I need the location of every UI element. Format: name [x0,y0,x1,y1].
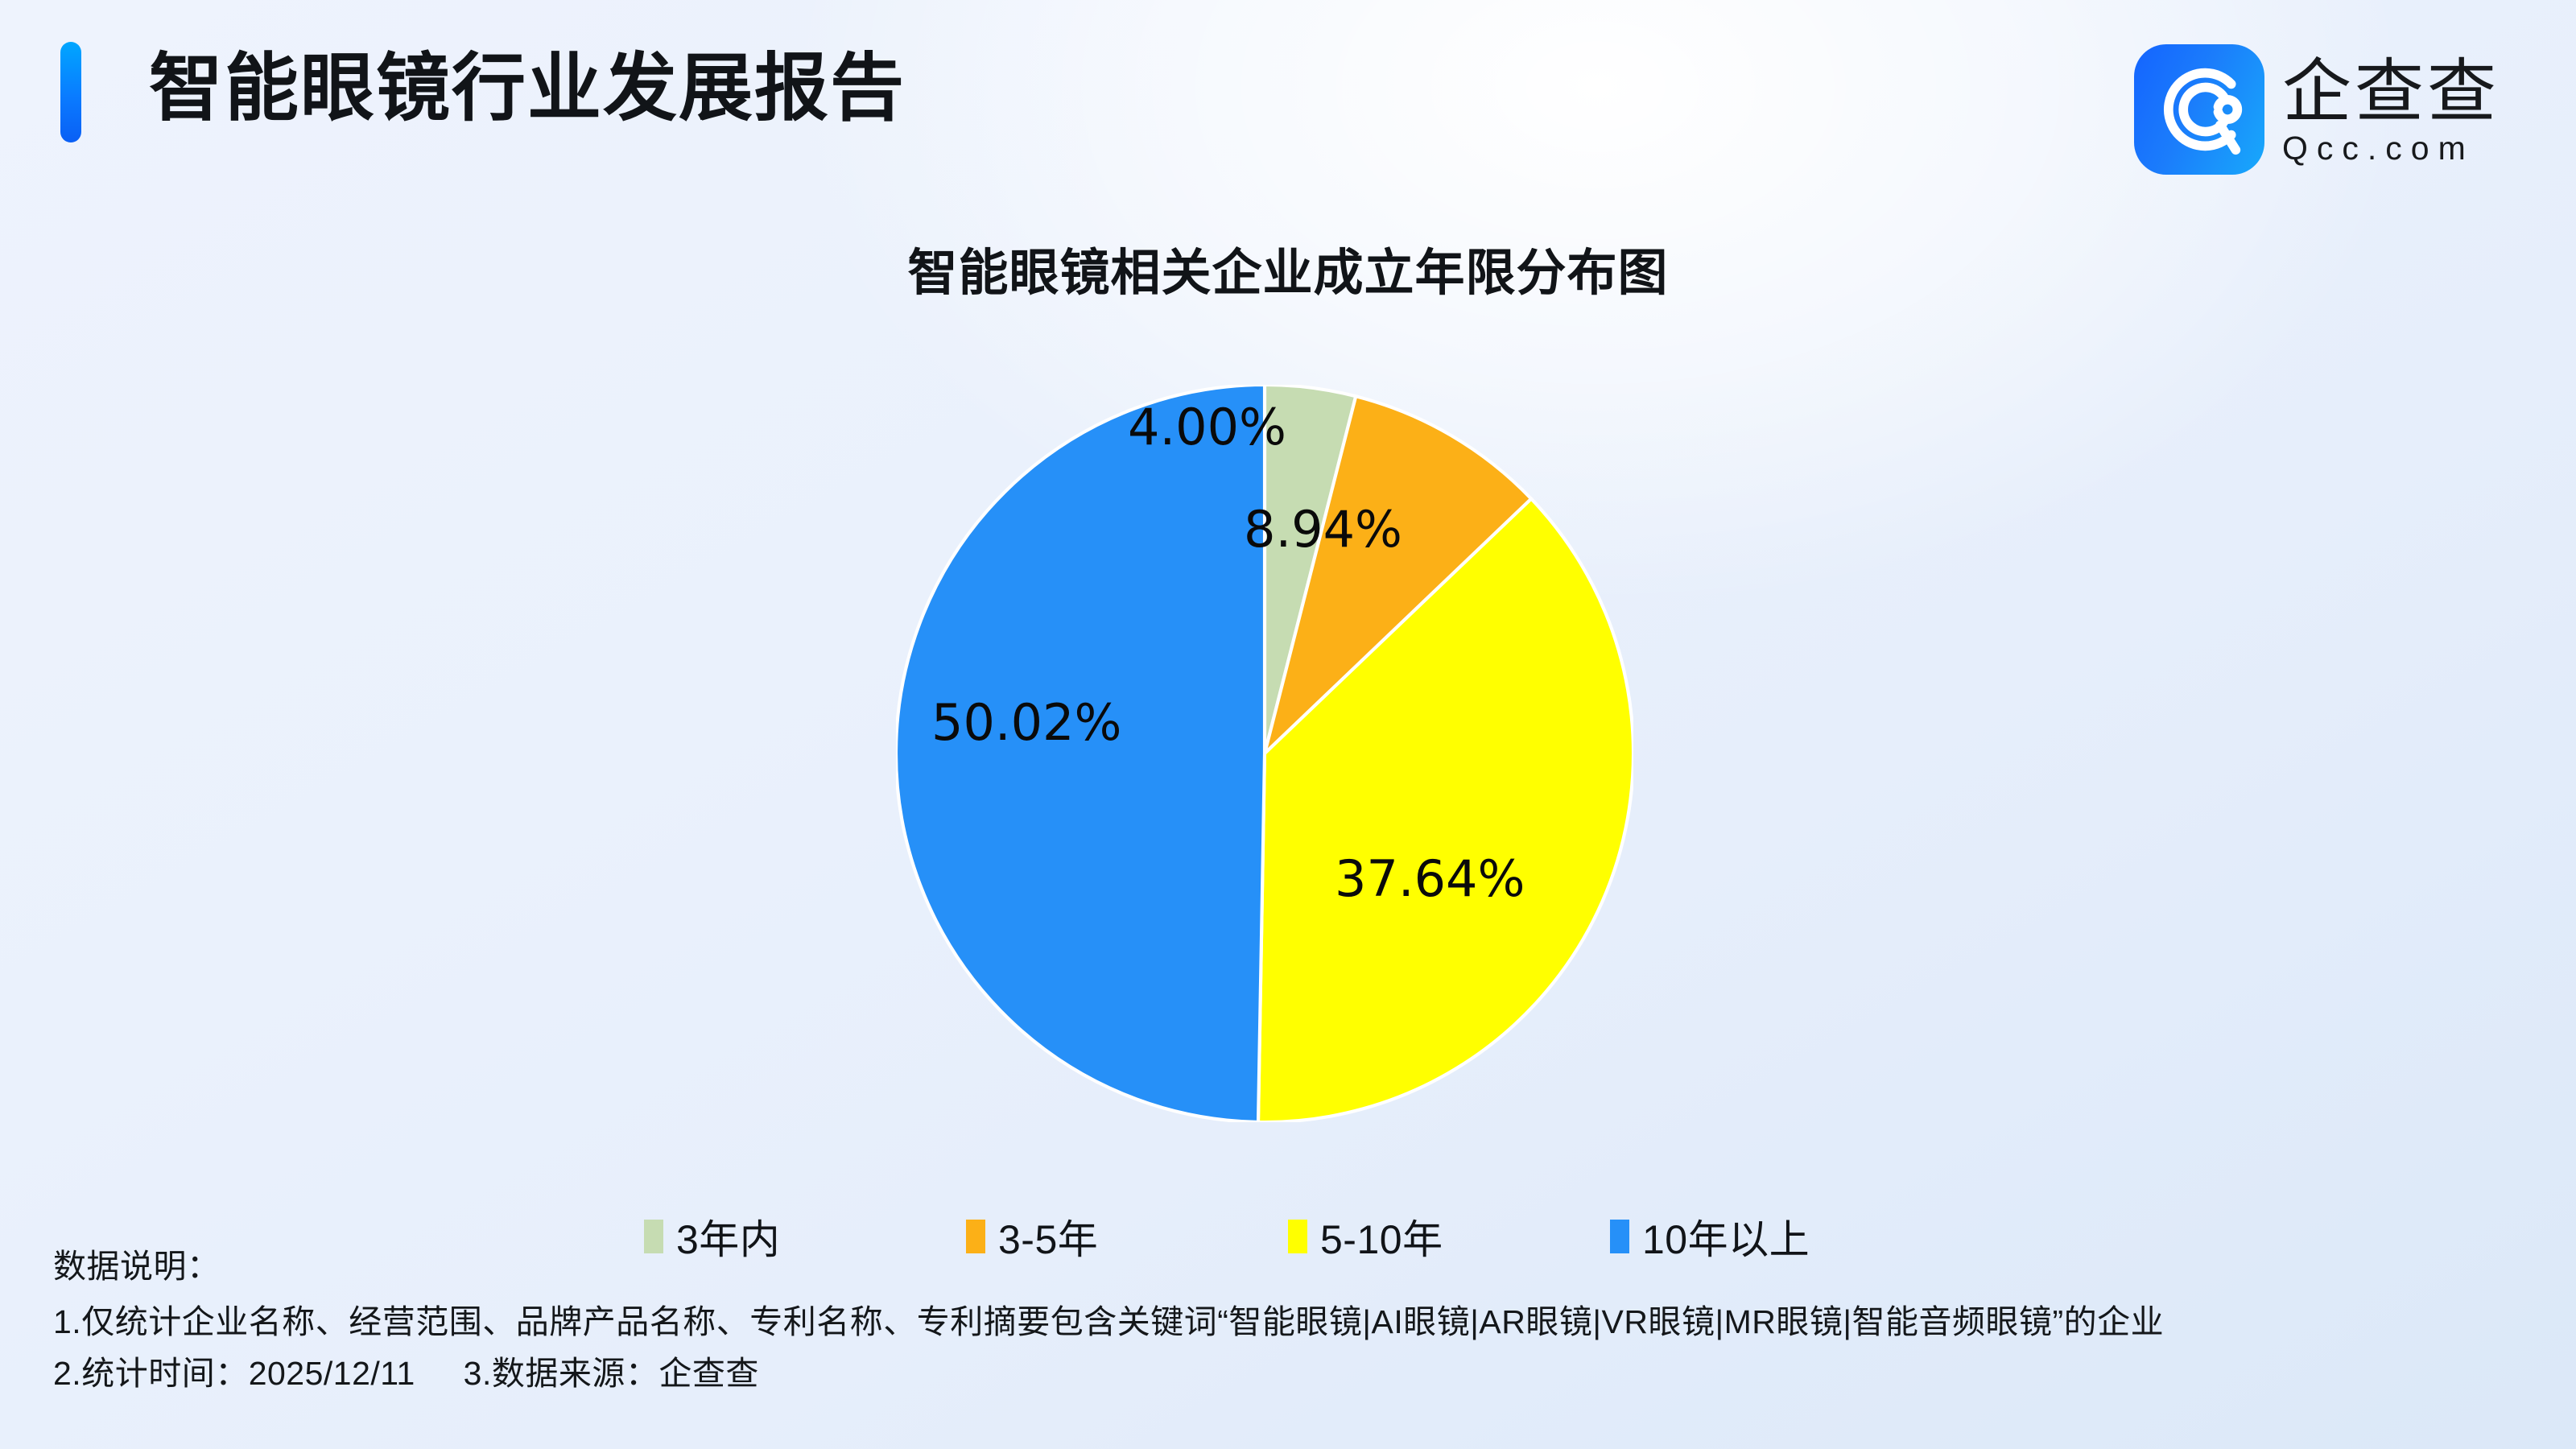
page-title: 智能眼镜行业发展报告 [149,32,906,145]
notes-heading: 数据说明： [53,1241,2533,1291]
brand-wordmark: 企查查 Qcc.com [2282,57,2500,167]
pie-slice-label-3nian: 4.00% [1128,398,1286,456]
data-notes: 数据说明： 1.仅统计企业名称、经营范围、品牌产品名称、专利名称、专利摘要包含关… [53,1241,2533,1399]
chart-title: 智能眼镜相关企业成立年限分布图 [0,232,2576,304]
notes-line-2: 2.统计时间：2025/12/11 3.数据来源：企查查 [53,1348,2533,1399]
brand-name-en: Qcc.com [2282,130,2500,167]
pie-chart-svg [896,385,1633,1122]
notes-stat-date: 2.统计时间：2025/12/11 [53,1355,415,1392]
notes-data-source: 3.数据来源：企查查 [464,1355,759,1392]
brand-logo[interactable]: 企查查 Qcc.com [2134,44,2500,175]
brand-name-cn: 企查查 [2282,57,2500,128]
title-accent-bar [60,42,81,142]
pie-slice[interactable] [896,385,1265,1122]
qcc-logo-icon [2134,44,2264,175]
pie-slice-label-10nianyishang: 50.02% [931,693,1121,752]
notes-line-1: 1.仅统计企业名称、经营范围、品牌产品名称、专利名称、专利摘要包含关键词“智能眼… [53,1296,2533,1348]
pie-chart: 4.00% 8.94% 37.64% 50.02% [896,385,1633,1122]
pie-slice-label-5to10nian: 37.64% [1335,849,1525,908]
report-page: 智能眼镜行业发展报告 企查查 Qcc.com 智能眼镜相关企业成立年限分布图 [0,0,2576,1449]
page-header: 智能眼镜行业发展报告 企查查 Qcc.com [0,0,2576,201]
pie-slice-label-3to5nian: 8.94% [1244,500,1402,559]
